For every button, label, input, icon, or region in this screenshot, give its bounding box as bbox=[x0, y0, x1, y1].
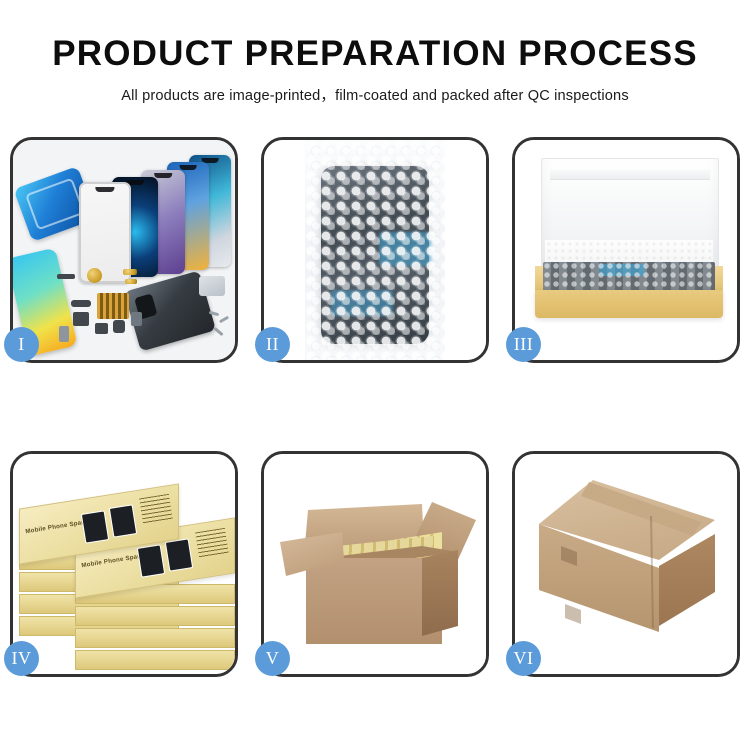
bubble-wrap-photo bbox=[264, 140, 486, 360]
connector-chip-icon bbox=[97, 293, 129, 319]
stacked-boxes-photo: Mobile Phone Spare Parts Mobile Phone Sp… bbox=[13, 454, 235, 674]
step-panel-5: V bbox=[261, 451, 489, 677]
step-panel-4: Mobile Phone Spare Parts Mobile Phone Sp… bbox=[10, 451, 238, 677]
step-badge-6: VI bbox=[506, 641, 541, 676]
camera-module-icon bbox=[71, 300, 91, 307]
speaker-part-icon bbox=[87, 268, 102, 283]
bubble-texture-overlay bbox=[543, 262, 715, 292]
step-panel-6: VI bbox=[512, 451, 740, 677]
step-panel-3: III bbox=[512, 137, 740, 363]
header: PRODUCT PREPARATION PROCESS All products… bbox=[0, 0, 750, 105]
vibrator-part-icon bbox=[73, 312, 89, 326]
box-print-phone-image bbox=[109, 504, 137, 537]
step-badge-5: V bbox=[255, 641, 290, 676]
page-title: PRODUCT PREPARATION PROCESS bbox=[0, 36, 750, 73]
stacked-box-edge bbox=[75, 606, 235, 626]
step-panel-2: II bbox=[261, 137, 489, 363]
sealed-carton-photo bbox=[515, 454, 737, 674]
notch-icon bbox=[154, 173, 172, 178]
notch-icon bbox=[180, 165, 197, 170]
kraft-tray-front bbox=[535, 290, 723, 318]
step-badge-3: III bbox=[506, 327, 541, 362]
inner-box-photo bbox=[515, 140, 737, 360]
sim-tray-part-icon bbox=[59, 326, 69, 342]
box-print-phone-image bbox=[81, 510, 109, 543]
products-photo bbox=[13, 140, 235, 360]
bubble-wrap-texture-overlay bbox=[305, 140, 445, 360]
page-subtitle: All products are image-printed，film-coat… bbox=[0, 84, 750, 105]
battery-connector-icon bbox=[131, 312, 142, 326]
gold-contact-part-icon bbox=[123, 269, 137, 275]
notch-icon bbox=[95, 187, 114, 192]
carton-side-face bbox=[422, 550, 458, 636]
gold-contact-part-icon bbox=[125, 279, 137, 284]
stacked-box-edge bbox=[75, 650, 235, 670]
steps-grid: I II III bbox=[10, 137, 740, 677]
screw-icon bbox=[213, 327, 223, 336]
box-print-phone-image bbox=[137, 544, 165, 577]
carton-flap-tab bbox=[565, 604, 581, 624]
tool-part-icon bbox=[199, 276, 225, 296]
box-print-text-block bbox=[195, 528, 229, 558]
button-part-icon bbox=[113, 320, 125, 333]
box-print-phone-image bbox=[165, 538, 193, 571]
carton-filling-photo bbox=[264, 454, 486, 674]
stacked-box-edge bbox=[75, 628, 235, 648]
step-badge-1: I bbox=[4, 327, 39, 362]
box-print-text-block bbox=[139, 494, 173, 524]
screw-icon bbox=[219, 316, 229, 324]
step-panel-1: I bbox=[10, 137, 238, 363]
box-stack: Mobile Phone Spare Parts Mobile Phone Sp… bbox=[17, 468, 235, 668]
flex-strip-part-icon bbox=[57, 274, 75, 279]
product-preparation-infographic: PRODUCT PREPARATION PROCESS All products… bbox=[0, 0, 750, 750]
step-badge-2: II bbox=[255, 327, 290, 362]
step-badge-4: IV bbox=[4, 641, 39, 676]
buzzer-part-icon bbox=[95, 323, 108, 334]
carton-front-face bbox=[306, 558, 442, 644]
phone-display-1 bbox=[79, 182, 131, 283]
